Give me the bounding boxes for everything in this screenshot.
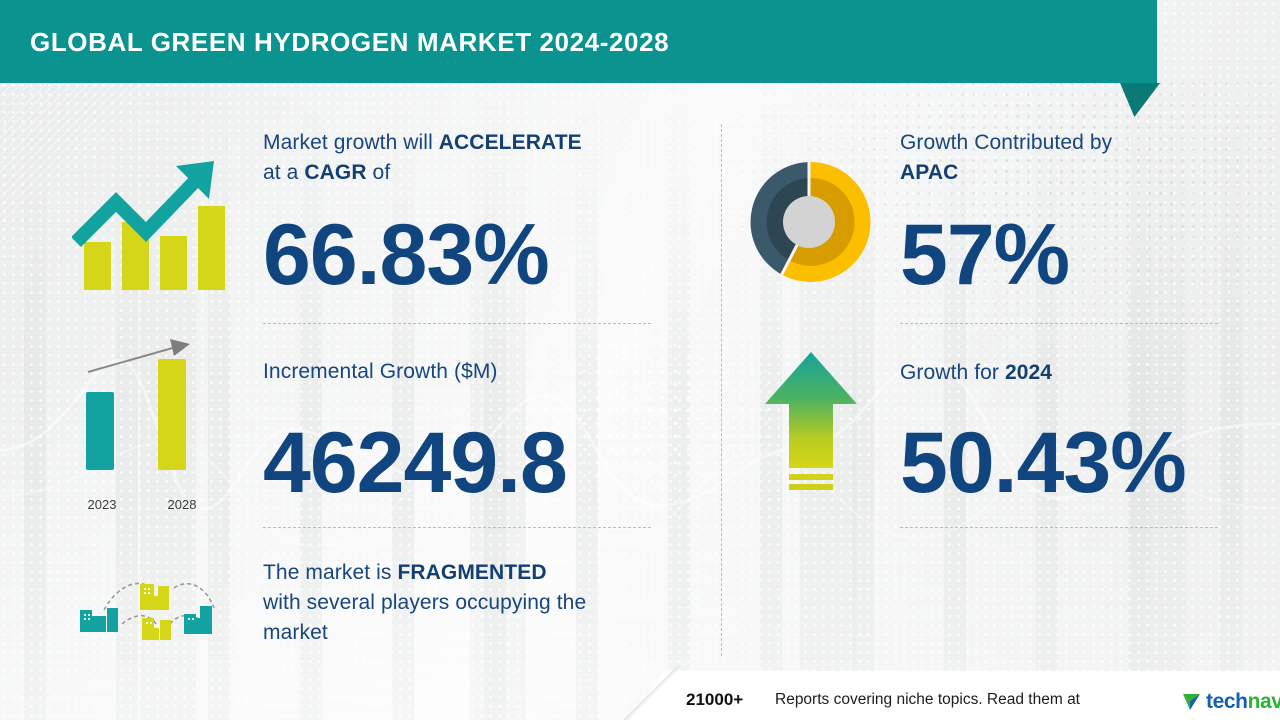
growth-2024-year: 2024 — [1005, 361, 1052, 384]
infographic-canvas: GLOBAL GREEN HYDROGEN MARKET 2024-2028 M… — [0, 0, 1280, 720]
technavio-arrow-mark — [1182, 690, 1204, 712]
donut-chart-icon — [745, 158, 873, 286]
footer-chamfer-edge — [624, 666, 684, 720]
logo-text-tech: tech — [1206, 690, 1248, 714]
growth-2024-label-plain: Growth for — [900, 361, 1005, 384]
cagr-caption: Market growth will ACCELERATE at a CAGR … — [263, 128, 663, 188]
bar-label-2028: 2028 — [159, 497, 205, 512]
technavio-logo[interactable]: technavio™ — [1182, 686, 1280, 714]
bar-comparison-icon — [78, 330, 208, 475]
cagr-caption-line1-plain: Market growth will — [263, 131, 439, 154]
apac-caption-line1: Growth Contributed by — [900, 131, 1112, 154]
divider-right-1 — [900, 323, 1218, 324]
column-divider — [721, 124, 722, 656]
fragmentation-line1-plain: The market is — [263, 561, 397, 584]
divider-left-1 — [263, 323, 651, 324]
growth-2024-caption: Growth for 2024 — [900, 358, 1220, 388]
apac-value: 57% — [900, 212, 1069, 298]
cagr-caption-cagr: CAGR — [304, 161, 366, 184]
bar-label-2023: 2023 — [79, 497, 125, 512]
report-count: 21000+ — [686, 690, 743, 710]
city-network-icon — [78, 558, 238, 658]
fragmentation-line2: with several players occupying the — [263, 591, 586, 614]
logo-text-navio: navio — [1248, 690, 1280, 714]
page-title: GLOBAL GREEN HYDROGEN MARKET 2024-2028 — [30, 27, 669, 58]
divider-right-2 — [900, 527, 1218, 528]
fragmentation-caption: The market is FRAGMENTED with several pl… — [263, 558, 683, 648]
cagr-value: 66.83% — [263, 212, 549, 298]
fragmentation-fragmented: FRAGMENTED — [397, 561, 546, 584]
apac-caption: Growth Contributed by APAC — [900, 128, 1230, 188]
cagr-caption-line2-plain-b: of — [367, 161, 391, 184]
footer-tagline: Reports covering niche topics. Read them… — [775, 691, 1080, 709]
incremental-growth-label: Incremental Growth ($M) — [263, 357, 498, 387]
incremental-growth-value: 46249.8 — [263, 420, 567, 506]
cagr-caption-line2-plain-a: at a — [263, 161, 304, 184]
up-arrow-icon — [762, 348, 860, 503]
apac-caption-region: APAC — [900, 161, 958, 184]
growth-chart-icon — [72, 150, 232, 295]
cagr-caption-accelerate: ACCELERATE — [439, 131, 582, 154]
divider-left-2 — [263, 527, 651, 528]
fragmentation-line3: market — [263, 621, 328, 644]
growth-2024-value: 50.43% — [900, 420, 1186, 506]
